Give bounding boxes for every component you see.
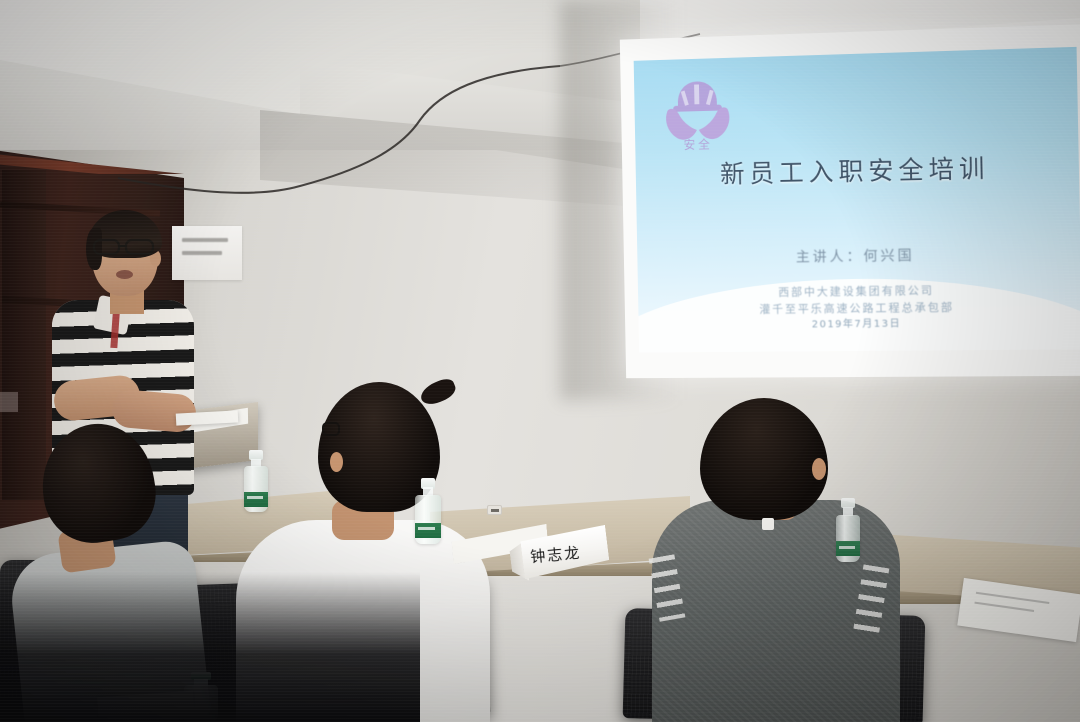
logo-caption: 安全 <box>660 135 736 154</box>
attendee-center-glasses-temple <box>322 422 340 436</box>
attendee-center-ear <box>330 452 343 472</box>
bottle-body <box>244 466 268 512</box>
foreground-shadow <box>0 572 420 722</box>
training-room-photo: 安全 新员工入职安全培训 主讲人：何兴国 西部中大建设集团有限公司 灌千至平乐高… <box>0 0 1080 722</box>
slide-speaker-line: 主讲人：何兴国 <box>637 242 1080 269</box>
attendee-right-collar-tag <box>762 518 774 530</box>
cabinet-notice <box>0 392 18 412</box>
water-bottle-3 <box>836 498 860 562</box>
bottle-label <box>836 541 860 556</box>
presenter-arm-right <box>111 388 198 433</box>
presentation-slide: 安全 新员工入职安全培训 主讲人：何兴国 西部中大建设集团有限公司 灌千至平乐高… <box>634 47 1080 353</box>
paper-text-line <box>974 602 1034 612</box>
wall-notice-sign <box>172 226 242 280</box>
bottle-body <box>415 495 441 544</box>
wall-sign-line-1 <box>182 238 228 242</box>
projection-screen: 安全 新员工入职安全培训 主讲人：何兴国 西部中大建设集团有限公司 灌千至平乐高… <box>620 24 1080 378</box>
power-outlet-icon <box>487 505 502 515</box>
slide-title: 新员工入职安全培训 <box>635 147 1079 193</box>
slide-footer: 西部中大建设集团有限公司 灌千至平乐高速公路工程总承包部 2019年7月13日 <box>638 280 1080 335</box>
eyeglasses-icon <box>93 238 157 256</box>
bottle-label <box>244 492 268 507</box>
cabinet-panel <box>2 170 46 500</box>
attendee-right-ear <box>812 458 826 480</box>
bottle-label <box>415 523 441 539</box>
wall-sign-line-2 <box>182 251 222 255</box>
presenter-mouth <box>116 270 133 279</box>
paper-text-line <box>976 592 1050 604</box>
water-bottle-2 <box>415 478 441 544</box>
water-bottle-1 <box>244 450 268 512</box>
bottle-body <box>836 515 860 562</box>
